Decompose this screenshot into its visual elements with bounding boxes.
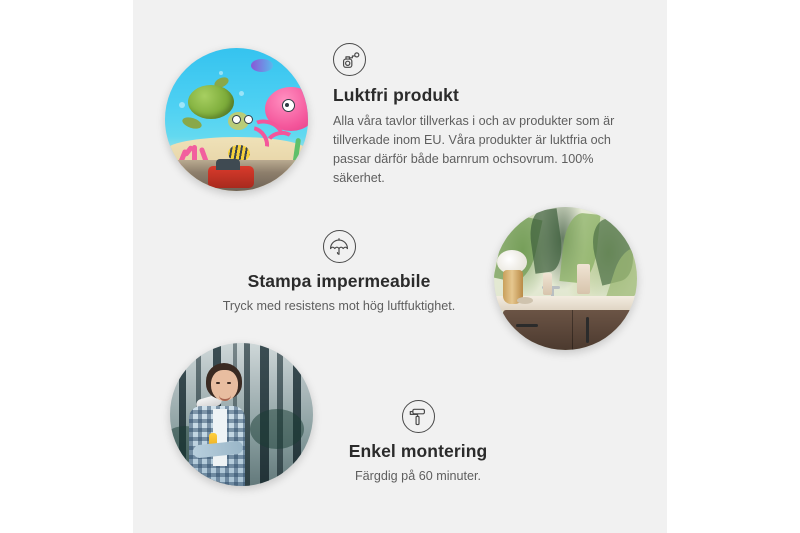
feature-easy-mounting: Enkel montering Färgdig på 60 minuter. — [288, 400, 548, 486]
feature-description: Tryck med resistens mot hög luftfuktighe… — [196, 297, 482, 316]
feature-title: Luktfri produkt — [333, 85, 627, 106]
paint-roller-icon — [402, 400, 435, 433]
photo-ocean-mural — [165, 48, 308, 191]
feature-title: Enkel montering — [288, 441, 548, 462]
no-perfume-icon — [333, 43, 366, 76]
feature-waterproof: Stampa impermeabile Tryck med resistens … — [196, 230, 482, 316]
photo-bathroom-interior — [494, 207, 637, 350]
feature-description: Färgdig på 60 minuter. — [288, 467, 548, 486]
infographic-stage: Luktfri produkt Alla våra tavlor tillver… — [0, 0, 800, 533]
umbrella-icon — [323, 230, 356, 263]
feature-odor-free: Luktfri produkt Alla våra tavlor tillver… — [333, 43, 627, 189]
feature-description: Alla våra tavlor tillverkas i och av pro… — [333, 112, 627, 189]
feature-title: Stampa impermeabile — [196, 271, 482, 292]
